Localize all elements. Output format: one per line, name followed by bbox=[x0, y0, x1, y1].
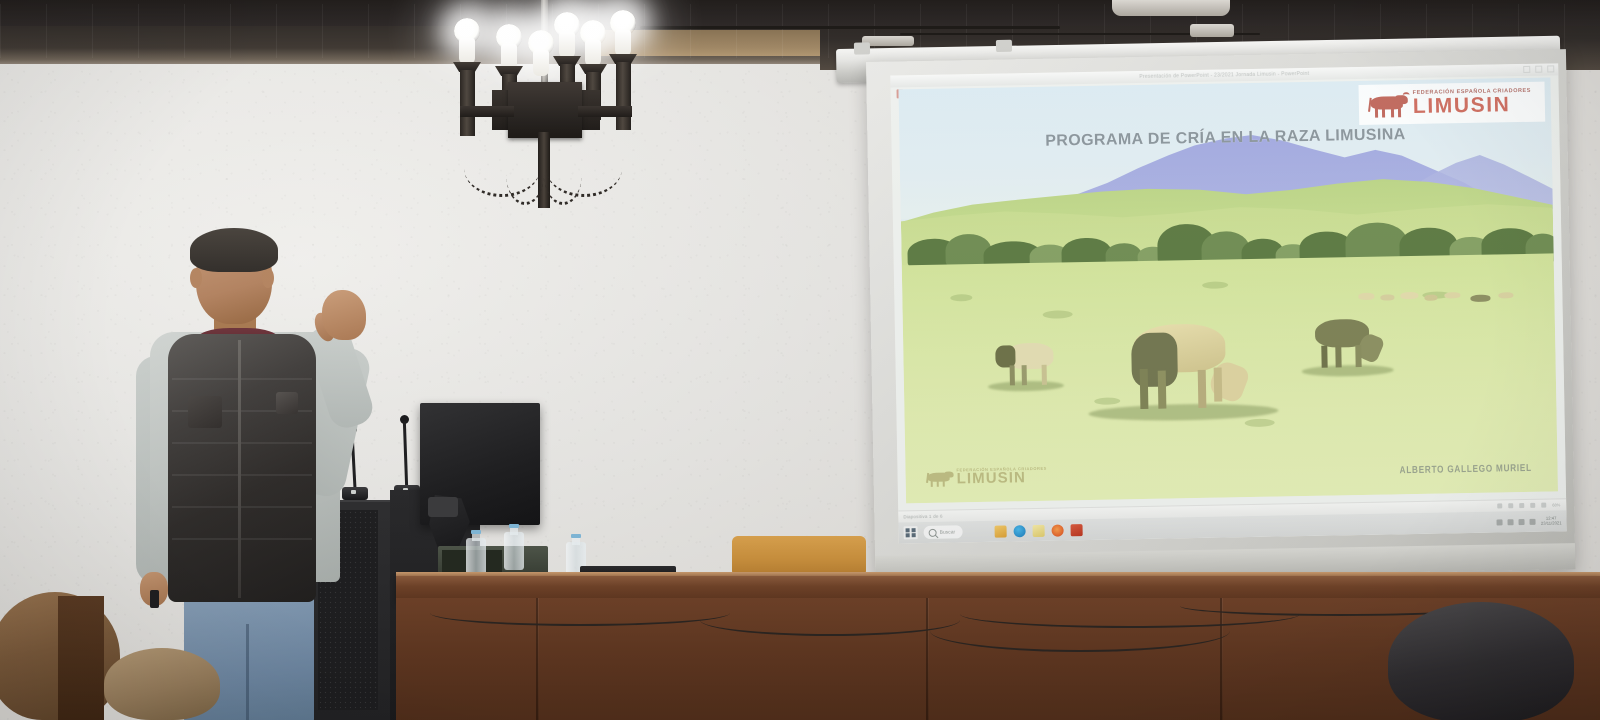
chandelier-candle bbox=[585, 40, 601, 66]
presenter-gilet-badge bbox=[188, 396, 222, 428]
cow-shape bbox=[1424, 295, 1437, 301]
cow-shape bbox=[1400, 292, 1418, 299]
notes-app-icon[interactable] bbox=[1032, 524, 1044, 536]
chandelier-candle bbox=[615, 30, 631, 56]
powerpoint-window[interactable]: Presentación de PowerPoint - 23/2021 Jor… bbox=[890, 63, 1566, 543]
audience-member-right bbox=[1388, 602, 1574, 720]
audience-chair-back bbox=[58, 596, 104, 720]
chandelier-arm bbox=[578, 106, 632, 117]
chandelier-chain bbox=[544, 144, 582, 205]
presentation-clicker bbox=[150, 590, 159, 608]
slide-counter: Diapositiva 1 de 6 bbox=[903, 514, 942, 520]
presenter-gilet-badge bbox=[276, 392, 298, 414]
limusin-logo-bottom-left: FEDERACIÓN ESPAÑOLA CRIADORES LIMUSIN bbox=[923, 467, 1047, 487]
cow-leg bbox=[1042, 365, 1047, 385]
chandelier-chain bbox=[506, 144, 544, 205]
water-bottle bbox=[504, 524, 524, 570]
chandelier-candle bbox=[459, 38, 475, 64]
edge-browser-icon[interactable] bbox=[1013, 525, 1025, 537]
presenter-ear bbox=[190, 268, 202, 288]
slide-canvas[interactable]: PROGRAMA DE CRÍA EN LA RAZA LIMUSINA bbox=[899, 77, 1558, 503]
chevron-up-icon[interactable] bbox=[1497, 519, 1503, 525]
cow-shape bbox=[1380, 294, 1394, 300]
powerpoint-title-text: Presentación de PowerPoint - 23/2021 Jor… bbox=[1139, 71, 1309, 80]
system-tray[interactable]: 12:47 23/11/2021 bbox=[1497, 516, 1562, 527]
zoom-level[interactable]: 68% bbox=[1552, 502, 1560, 507]
audience-hair bbox=[104, 648, 220, 720]
cow-grazing-right bbox=[1311, 318, 1390, 377]
presentation-room-photo: Presentación de PowerPoint - 23/2021 Jor… bbox=[0, 0, 1600, 720]
presenter-gilet-zip bbox=[238, 340, 241, 598]
presenter-jeans-seam bbox=[246, 624, 249, 720]
cow-leg bbox=[1198, 370, 1207, 408]
presenter-hair bbox=[190, 228, 278, 272]
windows-start-icon[interactable] bbox=[904, 526, 918, 539]
cow-head bbox=[995, 345, 1015, 367]
grass-tuft bbox=[1202, 281, 1228, 288]
sorter-view-icon[interactable] bbox=[1508, 503, 1513, 508]
cow-leg bbox=[1355, 345, 1361, 367]
volume-icon[interactable] bbox=[1519, 519, 1525, 525]
cow-leg bbox=[1158, 371, 1167, 409]
ceiling-cable bbox=[640, 26, 1060, 29]
chandelier-body bbox=[508, 82, 582, 138]
chandelier-candle bbox=[533, 50, 549, 76]
logo-brand-text: LIMUSIN bbox=[957, 471, 1048, 487]
cow-leg bbox=[1335, 345, 1341, 367]
monitor-hinge bbox=[428, 497, 458, 517]
logo-brand-text: LIMUSIN bbox=[1413, 95, 1532, 117]
normal-view-icon[interactable] bbox=[1497, 503, 1502, 508]
taskbar-search-input[interactable]: Buscar bbox=[924, 525, 963, 539]
water-bottle bbox=[466, 530, 486, 576]
file-explorer-icon[interactable] bbox=[994, 525, 1006, 537]
screen-bracket bbox=[854, 42, 870, 54]
power-cable bbox=[430, 600, 730, 626]
presenter-right-hand bbox=[322, 290, 366, 340]
ceiling-light-fixture bbox=[1112, 0, 1230, 16]
maximize-icon[interactable] bbox=[1535, 66, 1542, 73]
battery-icon[interactable] bbox=[1530, 518, 1536, 524]
audience-member-center-left bbox=[104, 648, 220, 720]
chandelier-stem bbox=[616, 62, 631, 130]
grass-tuft bbox=[1245, 419, 1275, 428]
cow-leg bbox=[1321, 346, 1327, 368]
chandelier-stem bbox=[460, 70, 475, 136]
power-cable bbox=[700, 604, 960, 636]
projection-screen: Presentación de PowerPoint - 23/2021 Jor… bbox=[866, 49, 1575, 582]
taskbar-app-list[interactable] bbox=[994, 524, 1082, 538]
chair-backrest bbox=[732, 536, 866, 574]
bull-icon bbox=[1365, 91, 1409, 118]
projected-image: Presentación de PowerPoint - 23/2021 Jor… bbox=[890, 63, 1566, 543]
close-icon[interactable] bbox=[1547, 65, 1554, 72]
chandelier-candle bbox=[559, 32, 575, 58]
taskbar-clock[interactable]: 12:47 23/11/2021 bbox=[1541, 516, 1562, 526]
reading-view-icon[interactable] bbox=[1519, 503, 1524, 508]
cow-grazing-center bbox=[1125, 323, 1253, 421]
cow-shadow bbox=[1302, 364, 1394, 377]
presenter bbox=[110, 228, 400, 720]
grass-tuft bbox=[1094, 397, 1120, 404]
grass-tuft bbox=[1043, 310, 1073, 319]
cow-leg bbox=[1022, 365, 1027, 385]
cow-shape bbox=[1470, 295, 1490, 302]
screen-bracket bbox=[996, 40, 1012, 52]
powerpoint-icon[interactable] bbox=[1070, 524, 1082, 536]
audience-hair bbox=[1388, 602, 1574, 720]
zoom-out-icon[interactable] bbox=[1541, 503, 1546, 508]
cow-grazing-left bbox=[999, 340, 1062, 391]
cow-leg bbox=[1214, 368, 1223, 402]
slideshow-icon[interactable] bbox=[1530, 503, 1535, 508]
search-placeholder: Buscar bbox=[940, 529, 956, 535]
window-controls[interactable] bbox=[1523, 65, 1554, 73]
cow-shape bbox=[1358, 293, 1374, 300]
network-icon[interactable] bbox=[1508, 519, 1514, 525]
cow-shape bbox=[1498, 292, 1513, 298]
bull-icon bbox=[923, 468, 953, 487]
minimize-icon[interactable] bbox=[1523, 66, 1530, 73]
cow-shape bbox=[1444, 292, 1460, 298]
smoke-detector bbox=[1190, 24, 1234, 37]
limusin-logo-top-right: FEDERACIÓN ESPAÑOLA CRIADORES LIMUSIN bbox=[1359, 82, 1546, 125]
presenter-ear bbox=[262, 268, 274, 288]
grass-tuft bbox=[950, 294, 972, 301]
chandelier bbox=[452, 0, 642, 225]
cow-shading bbox=[1131, 332, 1178, 387]
firefox-icon[interactable] bbox=[1051, 524, 1063, 536]
clock-date: 23/11/2021 bbox=[1541, 520, 1562, 525]
status-bar-controls[interactable]: 68% bbox=[1497, 502, 1560, 508]
chandelier-arm bbox=[460, 106, 514, 117]
presenter-gilet bbox=[168, 334, 316, 602]
search-icon bbox=[929, 528, 937, 536]
cow-leg bbox=[1140, 369, 1149, 409]
cow-leg bbox=[1010, 365, 1015, 385]
